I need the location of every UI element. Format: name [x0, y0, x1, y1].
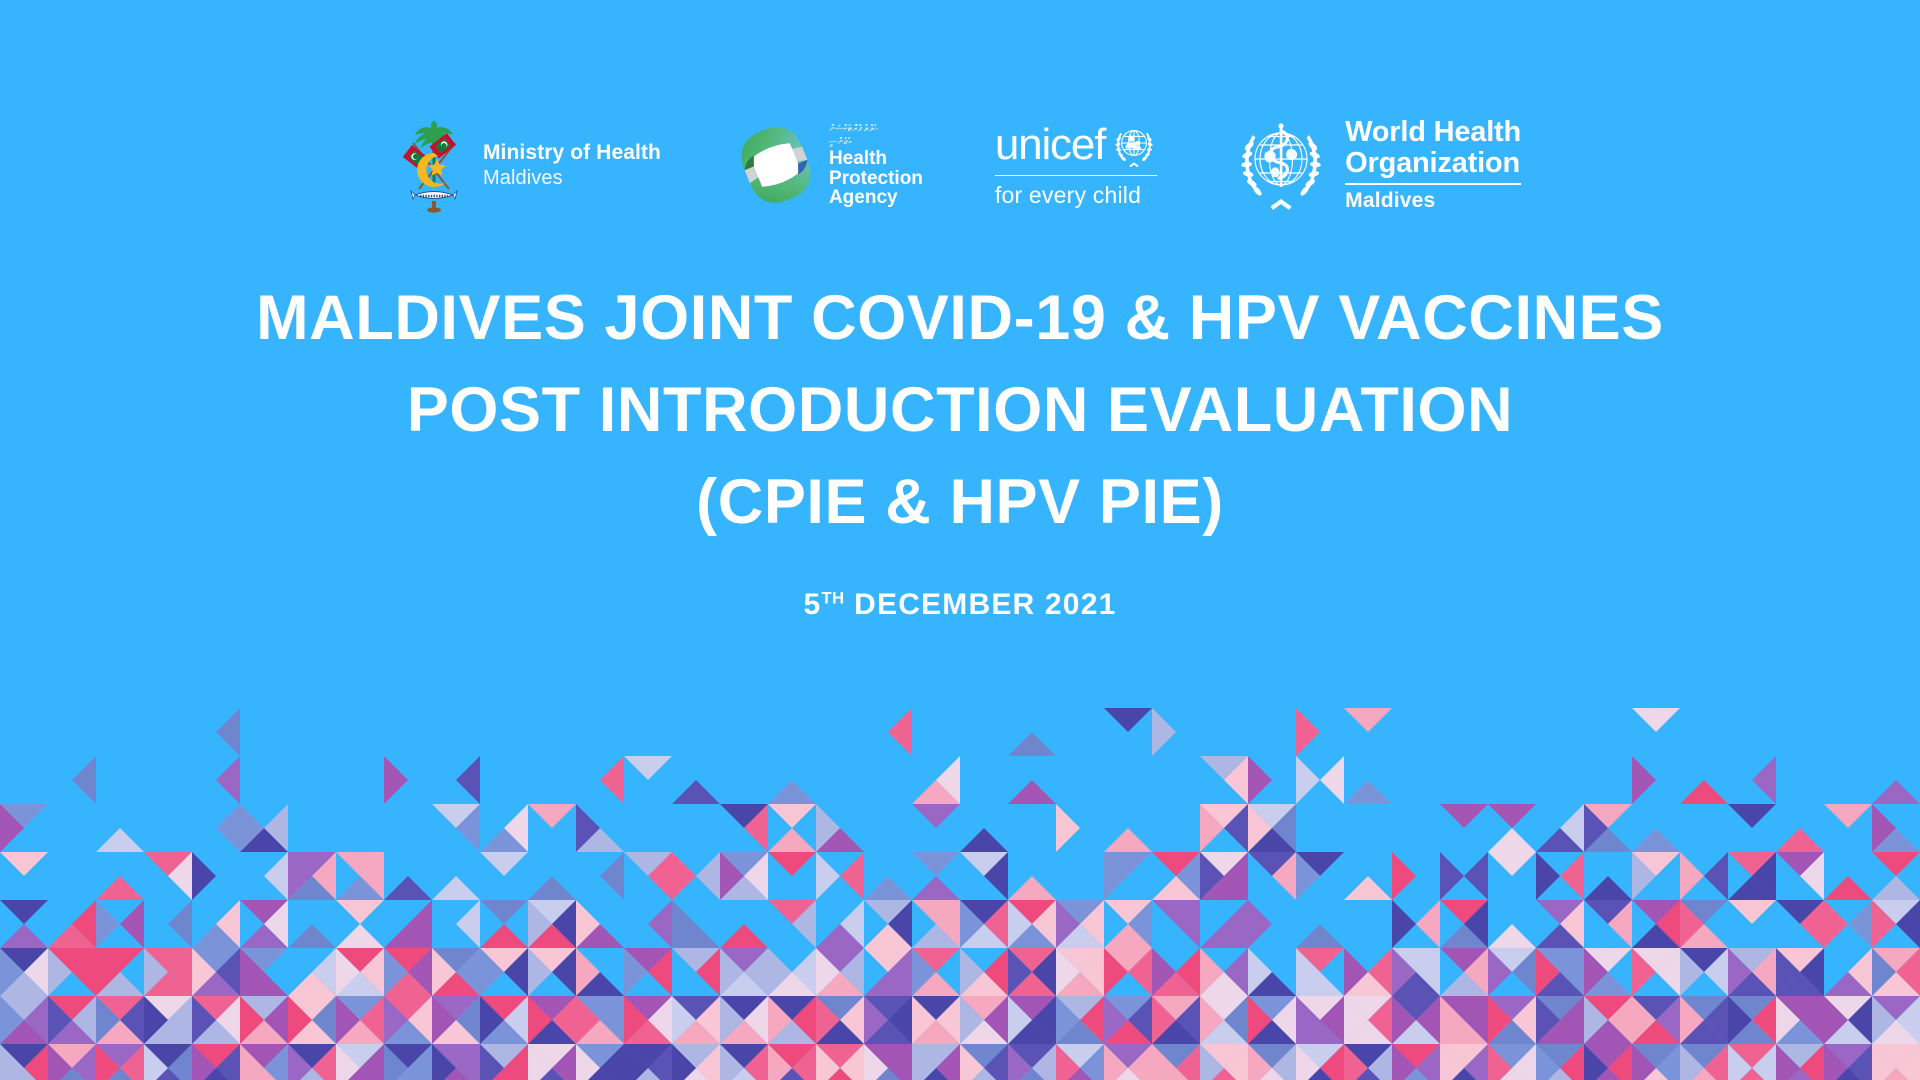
hpa-name-line2: Protection — [829, 169, 923, 188]
pattern-triangle — [1632, 828, 1680, 852]
pattern-triangle — [1104, 828, 1152, 852]
pattern-triangle — [72, 756, 96, 804]
pattern-triangle — [1296, 756, 1320, 804]
pattern-triangle — [816, 852, 840, 900]
pattern-triangle — [1848, 900, 1872, 948]
pattern-triangle — [1344, 876, 1392, 900]
who-name-line2: Organization — [1345, 148, 1521, 179]
pattern-triangle — [600, 852, 624, 900]
who-rod-of-asclepius-globe-emblem-icon — [1229, 113, 1333, 217]
pattern-triangle — [120, 900, 144, 948]
moh-subtitle: Maldives — [483, 166, 661, 190]
who-name-line1: World Health — [1345, 117, 1521, 148]
pattern-triangle — [1584, 876, 1632, 900]
hpa-name-line1: Health — [829, 149, 923, 168]
pattern-triangle — [1680, 852, 1704, 900]
pattern-triangle — [384, 756, 408, 804]
hpa-capsule-mark-icon — [733, 114, 819, 216]
pattern-triangle — [1824, 804, 1872, 828]
logo-health-protection-agency: ހެލްތް ޕްރޮޓެކްޝަން އެޖެންސީ Health Prot… — [733, 114, 923, 216]
pattern-triangle — [216, 756, 240, 804]
pattern-triangle — [1008, 876, 1056, 900]
hpa-name-line3: Agency — [829, 188, 923, 207]
pattern-triangle — [216, 708, 240, 756]
pattern-triangle — [456, 900, 480, 948]
pattern-triangle — [1056, 804, 1080, 852]
pattern-triangle — [528, 876, 576, 900]
pattern-triangle — [1152, 708, 1176, 756]
pattern-triangle — [720, 924, 768, 948]
pattern-triangle — [672, 852, 696, 900]
unicef-globe-mother-child-emblem-icon — [1111, 122, 1157, 168]
pattern-triangle — [264, 852, 288, 900]
pattern-triangle — [600, 756, 624, 804]
pattern-triangle — [432, 876, 480, 900]
pattern-triangle — [1824, 900, 1848, 948]
pattern-triangle — [1296, 924, 1344, 948]
pattern-triangle — [1488, 828, 1536, 852]
pattern-triangle — [1320, 756, 1344, 804]
pattern-triangle — [1488, 852, 1536, 876]
pattern-triangle — [1440, 804, 1488, 828]
pattern-triangle — [480, 900, 528, 924]
who-country-label: Maldives — [1345, 189, 1521, 213]
logo-world-health-organization: World Health Organization Maldives — [1229, 113, 1521, 217]
who-divider-rule — [1345, 183, 1521, 185]
pattern-triangle — [1008, 732, 1056, 756]
pattern-triangle — [1344, 708, 1392, 732]
pattern-triangle — [960, 828, 1008, 852]
pattern-triangle — [168, 900, 192, 948]
unicef-tagline: for every child — [995, 182, 1141, 209]
pattern-triangle — [96, 900, 120, 948]
pattern-triangle — [672, 780, 720, 804]
triangle-mosaic-svg — [0, 660, 1920, 1080]
pattern-triangle — [864, 876, 912, 900]
pattern-triangle — [1728, 804, 1776, 828]
pattern-triangle — [1392, 900, 1416, 948]
unicef-wordmark: unicef — [995, 123, 1105, 167]
unicef-divider-rule — [995, 175, 1157, 176]
pattern-triangle — [1344, 780, 1392, 804]
title-line-1: MALDIVES JOINT COVID-19 & HPV VACCINES — [0, 272, 1920, 364]
pattern-triangle — [1488, 924, 1536, 948]
pattern-triangle — [624, 756, 672, 780]
pattern-triangle — [768, 852, 816, 876]
moh-title: Ministry of Health — [483, 140, 661, 166]
date-month-year: DECEMBER 2021 — [845, 588, 1117, 621]
slide-canvas: Ministry of Health Maldives — [0, 0, 1920, 1080]
pattern-triangle — [912, 876, 960, 900]
pattern-triangle — [1776, 828, 1824, 852]
logo-ministry-of-health: Ministry of Health Maldives — [399, 115, 661, 215]
pattern-triangle — [648, 900, 672, 948]
pattern-triangle — [480, 852, 528, 876]
pattern-triangle — [1680, 780, 1728, 804]
pattern-triangle — [1632, 708, 1680, 732]
pattern-triangle — [1464, 852, 1488, 900]
pattern-triangle — [1392, 852, 1416, 900]
hpa-dhivehi-line2: އެޖެންސީ — [829, 136, 923, 147]
pattern-triangle — [288, 924, 336, 948]
title-line-2: POST INTRODUCTION EVALUATION — [0, 364, 1920, 456]
pattern-triangle — [888, 708, 912, 756]
maldives-national-emblem-icon — [399, 115, 469, 215]
pattern-triangle — [1872, 876, 1920, 900]
hpa-dhivehi-line1: ހެލްތް ޕްރޮޓެކްޝަން — [829, 123, 923, 134]
pattern-triangle — [0, 852, 48, 876]
pattern-triangle — [0, 924, 48, 948]
pattern-triangle — [456, 756, 480, 804]
pattern-triangle — [336, 900, 384, 924]
date-day: 5 — [804, 588, 822, 621]
decorative-triangle-pattern — [0, 660, 1920, 1080]
pattern-triangle — [96, 828, 144, 852]
date-ordinal: TH — [821, 589, 844, 608]
pattern-triangle — [912, 804, 960, 828]
pattern-triangle — [1248, 900, 1272, 948]
pattern-triangle — [1440, 852, 1464, 900]
pattern-triangle — [840, 852, 864, 900]
pattern-triangle — [216, 804, 240, 852]
pattern-triangle — [1824, 876, 1872, 900]
pattern-triangle — [696, 852, 720, 900]
pattern-triangle — [768, 780, 816, 804]
pattern-triangle — [1560, 852, 1584, 900]
partner-logo-bar: Ministry of Health Maldives — [0, 100, 1920, 230]
pattern-triangle — [1632, 756, 1656, 804]
pattern-triangle — [768, 828, 816, 852]
pattern-triangle — [1248, 756, 1272, 804]
slide-date: 5TH DECEMBER 2021 — [0, 588, 1920, 622]
pattern-triangle — [336, 924, 384, 948]
pattern-triangle — [1296, 708, 1320, 756]
pattern-triangle — [1536, 852, 1560, 900]
pattern-triangle — [192, 852, 216, 900]
slide-title: MALDIVES JOINT COVID-19 & HPV VACCINES P… — [0, 272, 1920, 548]
pattern-triangle — [1008, 780, 1056, 804]
pattern-triangle — [1704, 852, 1728, 900]
pattern-triangle — [1728, 900, 1776, 924]
pattern-triangle — [768, 804, 816, 828]
pattern-triangle — [0, 900, 48, 924]
pattern-triangle — [1104, 708, 1152, 732]
pattern-triangle — [480, 924, 528, 948]
pattern-triangle — [1416, 900, 1440, 948]
pattern-triangle — [528, 804, 576, 828]
pattern-triangle — [1872, 780, 1920, 804]
pattern-triangle — [384, 876, 432, 900]
pattern-triangle — [912, 852, 960, 876]
pattern-triangle — [1872, 852, 1920, 876]
pattern-triangle — [96, 876, 144, 900]
logo-unicef: unicef — [995, 122, 1157, 209]
title-line-3: (CPIE & HPV PIE) — [0, 456, 1920, 548]
pattern-triangle — [1488, 804, 1536, 828]
pattern-triangle — [1752, 756, 1776, 804]
